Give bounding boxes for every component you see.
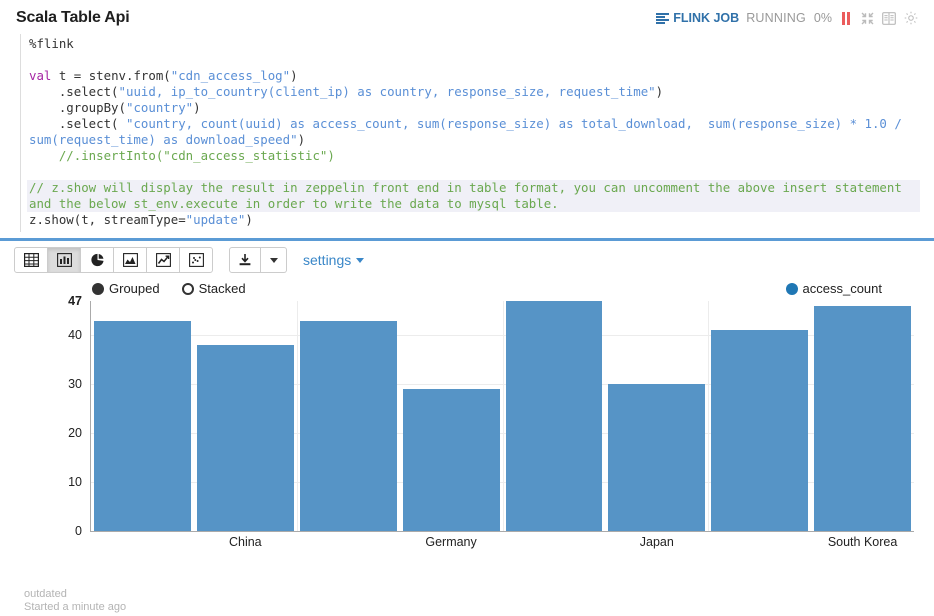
code-line: val t = stenv.from("cdn_access_log")	[27, 68, 920, 84]
code-token: val	[29, 68, 51, 83]
code-token: )	[193, 100, 200, 115]
y-axis-tick-label: 20	[68, 426, 82, 440]
visualization-toolbar: settings	[0, 241, 934, 279]
radio-grouped-icon	[92, 283, 104, 295]
download-button[interactable]	[229, 247, 261, 273]
settings-gear-button[interactable]	[903, 11, 918, 26]
bar[interactable]	[608, 384, 705, 531]
page-title: Scala Table Api	[16, 9, 130, 27]
book-button[interactable]	[881, 11, 896, 26]
code-token: .select(	[29, 84, 119, 99]
chart-mode-radio-group: Grouped Stacked	[92, 281, 246, 296]
y-axis-tick-label: 30	[68, 377, 82, 391]
code-token: "update"	[186, 212, 246, 227]
y-axis-tick-label: 10	[68, 475, 82, 489]
bar[interactable]	[94, 321, 191, 531]
paragraph-started: Started a minute ago	[24, 601, 934, 614]
chevron-down-icon	[356, 258, 364, 263]
legend-label: access_count	[803, 281, 883, 296]
code-token: )	[290, 68, 297, 83]
radio-stacked-icon	[182, 283, 194, 295]
code-line: .groupBy("country")	[27, 100, 920, 116]
download-icon	[238, 253, 252, 267]
chart-plot-area: 47403020100 ChinaGermanyJapanSouth Korea	[10, 301, 924, 569]
bar-chart-view-button[interactable]	[47, 247, 81, 273]
bar[interactable]	[506, 301, 603, 531]
x-axis-tick-label: Japan	[640, 535, 674, 549]
chevron-down-icon	[270, 258, 278, 263]
radio-grouped-label: Grouped	[109, 281, 160, 296]
code-token: z.show(t, streamType=	[29, 212, 186, 227]
collapse-icon	[861, 12, 874, 25]
code-line	[27, 164, 920, 180]
y-axis-tick-label: 40	[68, 328, 82, 342]
paragraph-header: Scala Table Api FLINK JOB RUNNING 0%	[0, 0, 934, 34]
scatter-chart-view-button[interactable]	[179, 247, 213, 273]
paragraph-status: outdated	[24, 588, 934, 601]
y-axis: 47403020100	[10, 301, 88, 531]
bar[interactable]	[197, 345, 294, 531]
radio-stacked-label: Stacked	[199, 281, 246, 296]
code-line	[27, 52, 920, 68]
pause-button[interactable]	[839, 11, 854, 26]
bar-chart: Grouped Stacked access_count 47403020100…	[10, 279, 924, 569]
notebook-paragraph: Scala Table Api FLINK JOB RUNNING 0%	[0, 0, 934, 616]
pie-chart-icon	[90, 253, 105, 267]
line-chart-icon	[156, 253, 171, 267]
code-token: "country, count(uuid) as access_count, s…	[29, 116, 909, 147]
code-token: t = stenv.from(	[51, 68, 170, 83]
collapse-button[interactable]	[861, 12, 874, 25]
paragraph-footer: outdated Started a minute ago	[0, 588, 934, 616]
code-token: .select(	[29, 116, 126, 131]
flink-job-link[interactable]: FLINK JOB	[656, 11, 739, 25]
code-token: //.insertInto("cdn_access_statistic")	[29, 148, 335, 163]
code-line: // z.show will display the result in zep…	[27, 180, 920, 212]
job-status-text: RUNNING	[746, 11, 806, 25]
code-line: %flink	[27, 36, 920, 52]
chart-bars	[91, 301, 914, 531]
bar[interactable]	[300, 321, 397, 531]
y-axis-tick-label: 47	[68, 294, 82, 308]
bar[interactable]	[403, 389, 500, 531]
code-token: "uuid, ip_to_country(client_ip) as count…	[119, 84, 656, 99]
settings-toggle[interactable]: settings	[303, 252, 364, 268]
header-actions: FLINK JOB RUNNING 0%	[656, 11, 918, 26]
bar[interactable]	[711, 330, 808, 531]
radio-stacked[interactable]: Stacked	[182, 281, 246, 296]
line-chart-view-button[interactable]	[146, 247, 180, 273]
code-token: %flink	[29, 36, 74, 51]
legend-color-swatch	[786, 283, 798, 295]
area-chart-icon	[123, 253, 138, 267]
x-axis-tick-label: China	[229, 535, 262, 549]
chart-legend-item[interactable]: access_count	[786, 281, 883, 296]
code-line: z.show(t, streamType="update")	[27, 212, 920, 228]
x-axis-tick-label: Germany	[425, 535, 476, 549]
pause-icon	[841, 12, 852, 25]
code-token: )	[656, 84, 663, 99]
code-editor[interactable]: %flink val t = stenv.from("cdn_access_lo…	[20, 34, 920, 232]
bar[interactable]	[814, 306, 911, 531]
code-token: "country"	[126, 100, 193, 115]
download-dropdown-button[interactable]	[261, 247, 287, 273]
table-view-button[interactable]	[14, 247, 48, 273]
scatter-chart-icon	[189, 253, 204, 267]
job-progress-text: 0%	[814, 11, 832, 25]
radio-grouped[interactable]: Grouped	[92, 281, 160, 296]
y-axis-tick-label: 0	[75, 524, 82, 538]
x-axis-tick-label: South Korea	[828, 535, 898, 549]
list-icon	[656, 13, 669, 24]
code-token: .groupBy(	[29, 100, 126, 115]
download-button-group	[229, 247, 287, 273]
code-token: )	[245, 212, 252, 227]
area-chart-view-button[interactable]	[113, 247, 147, 273]
code-line: .select("uuid, ip_to_country(client_ip) …	[27, 84, 920, 100]
x-axis-line	[90, 531, 914, 532]
code-token: // z.show will display the result in zep…	[29, 180, 909, 211]
code-token: "cdn_access_log"	[171, 68, 290, 83]
settings-label: settings	[303, 252, 351, 268]
flink-job-label: FLINK JOB	[673, 11, 739, 25]
chart-type-button-group	[14, 247, 213, 273]
x-axis: ChinaGermanyJapanSouth Korea	[91, 535, 914, 555]
gear-icon	[904, 11, 918, 25]
table-icon	[24, 253, 39, 267]
code-token: )	[298, 132, 305, 147]
code-line: .select( "country, count(uuid) as access…	[27, 116, 920, 148]
book-icon	[882, 12, 896, 25]
bar-chart-icon	[57, 253, 72, 267]
pie-chart-view-button[interactable]	[80, 247, 114, 273]
code-line: //.insertInto("cdn_access_statistic")	[27, 148, 920, 164]
